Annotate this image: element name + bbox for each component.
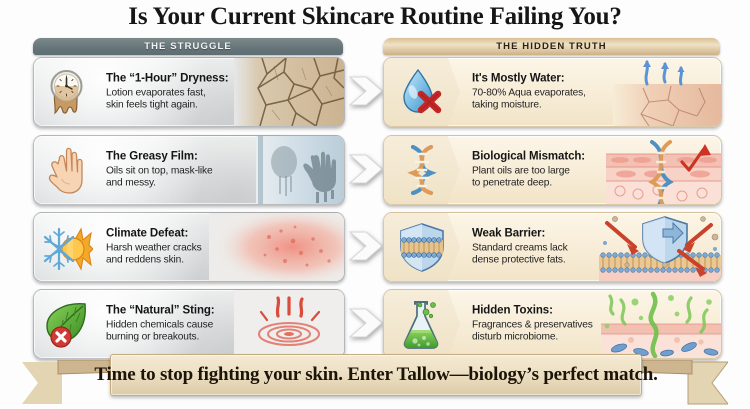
struggle-card[interactable]: The “1-Hour” Dryness: Lotion evaporates … xyxy=(33,57,345,127)
struggle-text-block: Climate Defeat: Harsh weather cracks and… xyxy=(106,228,266,267)
struggle-text-block: The Greasy Film: Oils sit on top, mask-l… xyxy=(106,151,266,190)
truth-heading: Biological Mismatch: xyxy=(472,151,652,165)
truth-card[interactable]: It's Mostly Water: 70-80% Aqua evaporate… xyxy=(383,57,722,127)
truth-heading: It's Mostly Water: xyxy=(472,73,652,87)
truth-text-block: Biological Mismatch: Plant oils are too … xyxy=(472,151,652,190)
melting-clock-icon xyxy=(34,58,100,126)
column-header-struggle: THE STRUGGLE xyxy=(33,38,343,55)
column-header-truth-label: THE HIDDEN TRUTH xyxy=(496,41,607,52)
greasy-hand-icon xyxy=(34,136,100,204)
comparison-row: The “1-Hour” Dryness: Lotion evaporates … xyxy=(0,57,750,125)
struggle-body-line-2: and reddens skin. xyxy=(106,254,266,266)
struggle-card[interactable]: Climate Defeat: Harsh weather cracks and… xyxy=(33,212,345,282)
struggle-body-line-2: skin feels tight again. xyxy=(106,99,266,111)
truth-body-line-1: Standard creams lack xyxy=(472,242,652,254)
struggle-heading: The “1-Hour” Dryness: xyxy=(106,73,266,87)
comparison-row: Climate Defeat: Harsh weather cracks and… xyxy=(0,212,750,280)
snowflake-sun-icon xyxy=(34,213,100,281)
truth-body-line-2: taking moisture. xyxy=(472,99,652,111)
truth-text-block: It's Mostly Water: 70-80% Aqua evaporate… xyxy=(472,73,652,112)
struggle-body-line-2: burning or breakouts. xyxy=(106,331,266,343)
truth-body-line-1: Fragrances & preservatives xyxy=(472,319,652,331)
truth-text-block: Hidden Toxins: Fragrances & preservative… xyxy=(472,305,652,344)
flow-arrow-icon xyxy=(348,149,384,189)
struggle-card[interactable]: The Greasy Film: Oils sit on top, mask-l… xyxy=(33,135,345,205)
struggle-card[interactable]: The “Natural” Sting: Hidden chemicals ca… xyxy=(33,289,345,359)
truth-text-block: Weak Barrier: Standard creams lack dense… xyxy=(472,228,652,267)
ribbon-body: Time to stop fighting your skin. Enter T… xyxy=(110,354,642,396)
truth-card[interactable]: Biological Mismatch: Plant oils are too … xyxy=(383,135,722,205)
struggle-body-line-1: Lotion evaporates fast, xyxy=(106,87,266,99)
water-drop-with-red-x-icon xyxy=(384,58,460,126)
truth-card[interactable]: Hidden Toxins: Fragrances & preservative… xyxy=(383,289,722,359)
flow-arrow-icon xyxy=(348,71,384,111)
ribbon-text: Time to stop fighting your skin. Enter T… xyxy=(94,364,657,386)
truth-body-line-2: disturb microbiome. xyxy=(472,331,652,343)
infographic-canvas: Is Your Current Skincare Routine Failing… xyxy=(0,0,750,409)
struggle-body-line-1: Harsh weather cracks xyxy=(106,242,266,254)
comparison-row: The “Natural” Sting: Hidden chemicals ca… xyxy=(0,289,750,357)
struggle-heading: Climate Defeat: xyxy=(106,228,266,242)
comparison-row: The Greasy Film: Oils sit on top, mask-l… xyxy=(0,135,750,203)
truth-heading: Hidden Toxins: xyxy=(472,305,652,319)
dna-helix-icon xyxy=(384,136,460,204)
column-header-struggle-label: THE STRUGGLE xyxy=(144,41,232,52)
green-flask-icon xyxy=(384,290,460,358)
struggle-text-block: The “Natural” Sting: Hidden chemicals ca… xyxy=(106,305,266,344)
flow-arrow-icon xyxy=(348,303,384,343)
column-header-truth: THE HIDDEN TRUTH xyxy=(383,38,720,55)
lipid-shield-icon xyxy=(384,213,460,281)
hand-smear-on-glass-image xyxy=(256,136,344,204)
leaf-with-red-x-icon xyxy=(34,290,100,358)
flow-arrow-icon xyxy=(348,226,384,266)
struggle-heading: The Greasy Film: xyxy=(106,151,266,165)
struggle-heading: The “Natural” Sting: xyxy=(106,305,266,319)
struggle-body-line-1: Oils sit on top, mask-like xyxy=(106,165,266,177)
truth-heading: Weak Barrier: xyxy=(472,228,652,242)
call-to-action-ribbon: Time to stop fighting your skin. Enter T… xyxy=(14,352,736,407)
struggle-body-line-2: and messy. xyxy=(106,177,266,189)
truth-body-line-1: 70-80% Aqua evaporates, xyxy=(472,87,652,99)
truth-body-line-1: Plant oils are too large xyxy=(472,165,652,177)
truth-body-line-2: to penetrate deep. xyxy=(472,177,652,189)
truth-body-line-2: dense protective fats. xyxy=(472,254,652,266)
page-title: Is Your Current Skincare Routine Failing… xyxy=(0,3,750,31)
struggle-body-line-1: Hidden chemicals cause xyxy=(106,319,266,331)
truth-card[interactable]: Weak Barrier: Standard creams lack dense… xyxy=(383,212,722,282)
struggle-text-block: The “1-Hour” Dryness: Lotion evaporates … xyxy=(106,73,266,112)
